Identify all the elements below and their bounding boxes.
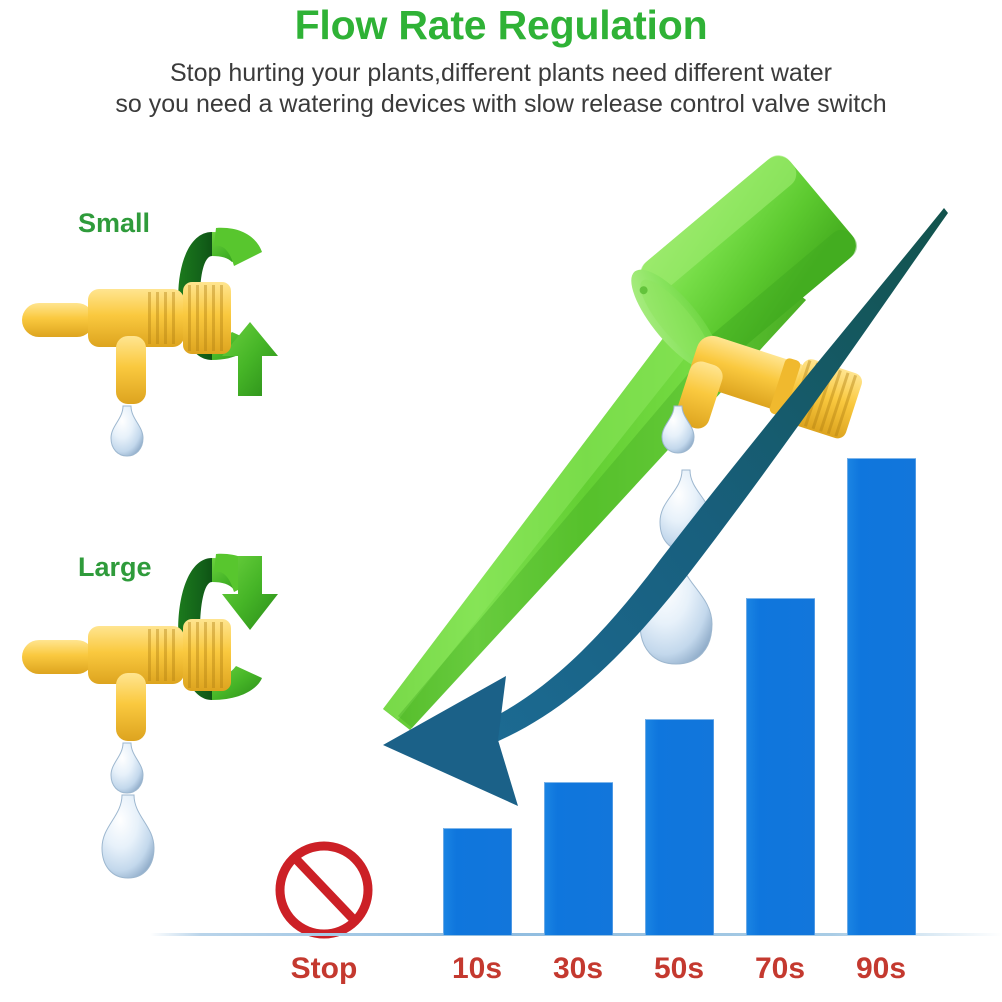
page-title: Flow Rate Regulation xyxy=(0,2,1002,49)
tick-label-90s: 90s xyxy=(835,952,927,986)
water-drop-icon-product-2 xyxy=(660,470,712,551)
tick-label-30s: 30s xyxy=(532,952,624,986)
water-drop-icon-product-3 xyxy=(640,553,712,664)
tick-label-50s: 50s xyxy=(633,952,725,986)
valve-illustration-small xyxy=(22,228,278,456)
bar-50s xyxy=(645,719,714,935)
bar-30s xyxy=(544,782,613,935)
bar-90s xyxy=(847,458,916,935)
water-drop-icon-product-1 xyxy=(662,406,694,453)
subtitle-line-2: so you need a watering devices with slow… xyxy=(0,89,1002,120)
tick-label-stop: Stop xyxy=(278,952,370,986)
prohibition-sign-icon xyxy=(280,846,368,934)
tick-label-10s: 10s xyxy=(431,952,523,986)
tick-label-70s: 70s xyxy=(734,952,826,986)
valve-label-small: Small xyxy=(78,208,150,239)
bar-10s xyxy=(443,828,512,935)
page-subtitle: Stop hurting your plants,different plant… xyxy=(0,58,1002,120)
subtitle-line-1: Stop hurting your plants,different plant… xyxy=(0,58,1002,89)
infographic-canvas: Flow Rate Regulation Stop hurting your p… xyxy=(0,0,1002,1002)
valve-illustration-large xyxy=(22,554,278,878)
valve-label-large: Large xyxy=(78,552,152,583)
bar-70s xyxy=(746,598,815,935)
